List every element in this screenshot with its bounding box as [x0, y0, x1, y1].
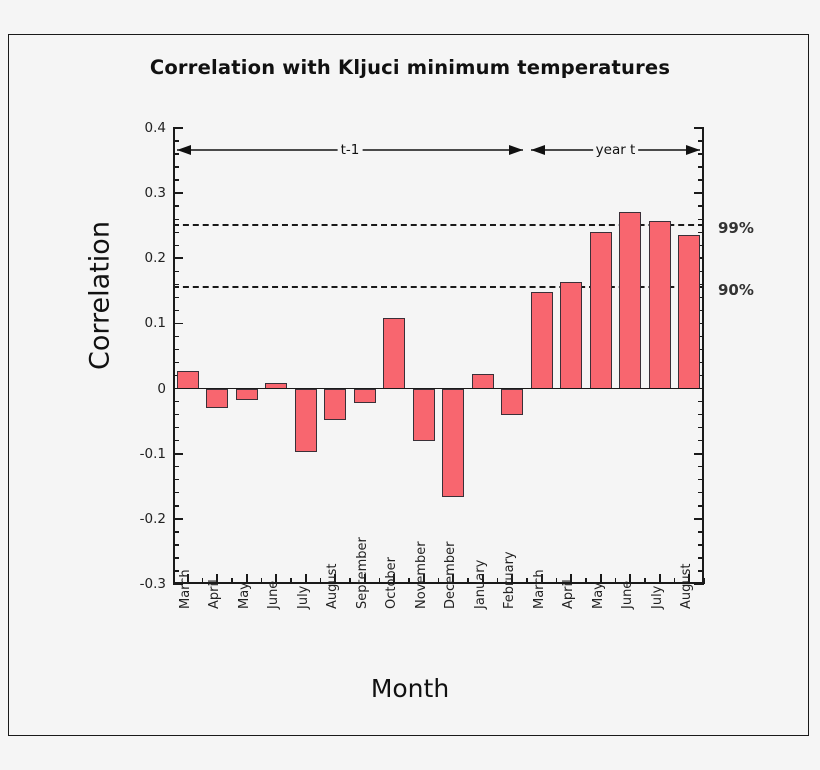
y-tick-minor: [173, 271, 179, 272]
x-tick-minor: [231, 578, 232, 584]
x-tick-label: January: [473, 560, 488, 609]
y-tick-major: [173, 323, 183, 325]
y-tick-minor: [698, 557, 704, 558]
x-tick-label: June: [620, 581, 635, 609]
y-tick-label: 0: [157, 381, 166, 397]
y-tick-minor: [173, 219, 179, 220]
y-tick-label: -0.2: [140, 511, 166, 527]
x-tick-minor: [644, 578, 645, 584]
y-tick-minor: [173, 479, 179, 480]
chart-page: Correlation with Kljuci minimum temperat…: [0, 0, 820, 770]
y-tick-minor: [173, 310, 179, 311]
y-tick-label: -0.1: [140, 446, 166, 462]
x-tick-label: February: [502, 551, 517, 609]
y-tick-minor: [173, 466, 179, 467]
x-tick-label: August: [325, 564, 340, 610]
y-tick-minor: [173, 492, 179, 493]
bar: [442, 389, 464, 497]
x-tick-label: July: [650, 586, 665, 609]
y-tick-minor: [698, 232, 704, 233]
y-tick-minor: [698, 205, 704, 206]
zero-line: [173, 388, 704, 390]
x-tick-label: July: [296, 586, 311, 609]
y-tick-minor: [698, 570, 704, 571]
bar: [590, 232, 612, 388]
x-tick-minor: [261, 578, 262, 584]
x-tick-minor: [173, 578, 174, 584]
y-tick-minor: [173, 505, 179, 506]
y-tick-minor: [173, 245, 179, 246]
x-tick-label: August: [679, 564, 694, 610]
y-tick-minor: [698, 505, 704, 506]
y-tick-minor: [698, 531, 704, 532]
x-tick-minor: [379, 578, 380, 584]
y-tick-minor: [173, 414, 179, 415]
bar: [177, 371, 199, 389]
x-tick-major: [659, 574, 661, 584]
y-tick-minor: [173, 427, 179, 428]
y-tick-minor: [173, 349, 179, 350]
x-tick-minor: [467, 578, 468, 584]
bar: [324, 389, 346, 420]
y-tick-minor: [173, 362, 179, 363]
y-tick-minor: [173, 401, 179, 402]
x-tick-minor: [526, 578, 527, 584]
bar: [236, 389, 258, 401]
y-tick-minor: [173, 440, 179, 441]
y-tick-minor: [698, 479, 704, 480]
y-tick-minor: [698, 179, 704, 180]
bar: [678, 235, 700, 389]
x-tick-minor: [615, 578, 616, 584]
axis-cap: [173, 127, 182, 129]
x-tick-minor: [556, 578, 557, 584]
x-tick-label: September: [355, 537, 370, 609]
bar: [531, 292, 553, 389]
y-tick-minor: [173, 284, 179, 285]
x-tick-label: April: [207, 579, 222, 609]
y-tick-major: [173, 257, 183, 259]
plot-area: 99%90% t-1year t: [173, 128, 704, 584]
bar: [354, 389, 376, 403]
y-tick-major: [694, 192, 704, 194]
bar: [295, 389, 317, 453]
x-tick-minor: [438, 578, 439, 584]
y-tick-minor: [173, 232, 179, 233]
y-tick-minor: [173, 336, 179, 337]
y-tick-minor: [698, 544, 704, 545]
x-tick-minor: [349, 578, 350, 584]
y-tick-minor: [698, 492, 704, 493]
bar: [619, 212, 641, 389]
y-tick-major: [173, 192, 183, 194]
x-tick-label: October: [384, 557, 399, 609]
y-tick-major: [173, 453, 183, 455]
bar: [206, 389, 228, 409]
bar: [472, 374, 494, 388]
x-tick-label: March: [178, 569, 193, 609]
y-tick-minor: [698, 166, 704, 167]
x-tick-label: June: [266, 581, 281, 609]
x-tick-label: March: [532, 569, 547, 609]
y-tick-minor: [173, 557, 179, 558]
x-tick-minor: [674, 578, 675, 584]
y-tick-major: [694, 518, 704, 520]
axis-cap: [695, 127, 704, 129]
chart-title: Correlation with Kljuci minimum temperat…: [0, 56, 820, 79]
bar: [649, 221, 671, 389]
x-tick-label: April: [561, 579, 576, 609]
y-tick-label: 0.2: [145, 250, 166, 266]
y-tick-minor: [173, 544, 179, 545]
span-current-year-label: year t: [593, 142, 639, 158]
bar: [383, 318, 405, 388]
y-tick-major: [173, 518, 183, 520]
x-tick-label: November: [414, 541, 429, 609]
significance-90-label: 90%: [718, 281, 754, 299]
y-tick-minor: [173, 205, 179, 206]
bar: [413, 389, 435, 441]
x-tick-minor: [585, 578, 586, 584]
y-tick-minor: [173, 166, 179, 167]
y-tick-label: -0.3: [140, 576, 166, 592]
x-tick-minor: [408, 578, 409, 584]
x-tick-minor: [290, 578, 291, 584]
y-tick-minor: [173, 179, 179, 180]
y-axis-tick-labels: 0.40.30.20.10-0.1-0.2-0.3: [118, 128, 166, 584]
significance-99-label: 99%: [718, 219, 754, 237]
x-axis-title: Month: [0, 674, 820, 703]
x-tick-minor: [202, 578, 203, 584]
y-tick-minor: [173, 531, 179, 532]
x-tick-label: May: [591, 582, 606, 609]
y-tick-minor: [698, 219, 704, 220]
bar: [560, 282, 582, 388]
y-tick-minor: [698, 466, 704, 467]
x-tick-label: December: [443, 542, 458, 609]
y-tick-minor: [698, 414, 704, 415]
y-tick-label: 0.4: [145, 120, 166, 136]
y-axis-title: Correlation: [85, 146, 116, 446]
y-tick-label: 0.1: [145, 315, 166, 331]
x-tick-major: [305, 574, 307, 584]
y-tick-major: [694, 453, 704, 455]
y-tick-minor: [698, 440, 704, 441]
y-tick-minor: [173, 297, 179, 298]
x-tick-label: May: [237, 582, 252, 609]
span-previous-year-label: t-1: [338, 142, 363, 158]
y-tick-label: 0.3: [145, 185, 166, 201]
y-tick-minor: [698, 401, 704, 402]
x-tick-minor: [320, 578, 321, 584]
x-tick-minor: [497, 578, 498, 584]
y-tick-minor: [698, 427, 704, 428]
x-tick-minor: [703, 578, 704, 584]
bar: [501, 389, 523, 415]
